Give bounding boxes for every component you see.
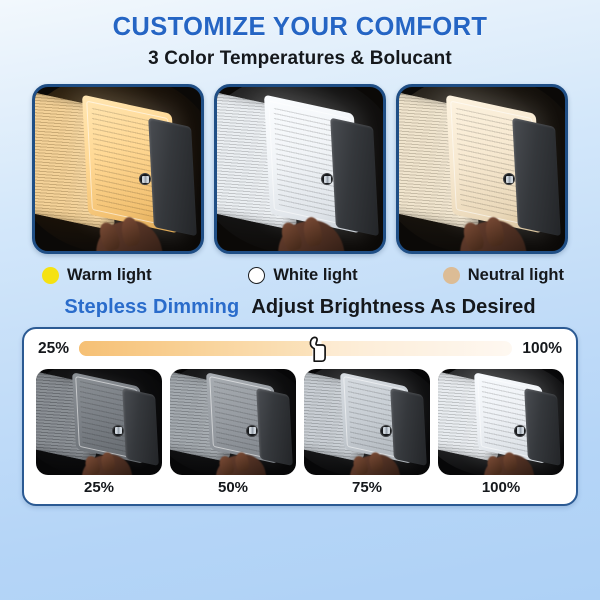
- warm-light-photo: [32, 84, 204, 254]
- brightness-label-75: 75%: [304, 479, 430, 496]
- brightness-thumbnail-row: [36, 369, 564, 475]
- brightness-slider-row[interactable]: 25% 100%: [36, 338, 564, 362]
- lamp-body-spine: [524, 388, 560, 466]
- lamp-body-spine: [256, 388, 292, 466]
- color-temperature-photo-row: [0, 84, 600, 254]
- book-light-illustration: [438, 369, 564, 475]
- book-light-illustration: [304, 369, 430, 475]
- lamp-body-spine: [512, 117, 561, 236]
- white-light-swatch-icon: [248, 267, 265, 284]
- lamp-body-spine: [390, 388, 426, 466]
- brightness-slider-fill: [79, 341, 317, 356]
- brightness-thumbnail-75: [304, 369, 430, 475]
- brightness-thumbnail-100: [438, 369, 564, 475]
- white-light-photo: [214, 84, 386, 254]
- warm-light-swatch-icon: [42, 267, 59, 284]
- brightness-slider-track[interactable]: [79, 341, 512, 356]
- neutral-light-swatch-icon: [443, 267, 460, 284]
- slider-min-label: 25%: [38, 340, 69, 358]
- page-subtitle: 3 Color Temperatures & Bolucant: [0, 48, 600, 70]
- page-title: CUSTOMIZE YOUR COMFORT: [0, 14, 600, 42]
- brightness-thumbnail-25: [36, 369, 162, 475]
- color-temperature-legend: Warm light White light Neutral light: [0, 266, 600, 285]
- hand-thumb-cursor-icon[interactable]: [305, 335, 329, 363]
- brightness-label-25: 25%: [36, 479, 162, 496]
- book-light-illustration: [35, 87, 201, 251]
- power-button-icon: [112, 425, 124, 437]
- lamp-body-spine: [122, 388, 158, 466]
- power-button-icon: [514, 425, 526, 437]
- dimming-heading-secondary: Adjust Brightness As Desired: [251, 296, 535, 319]
- lamp-body-spine: [330, 117, 379, 236]
- book-light-illustration: [170, 369, 296, 475]
- lamp-body-spine: [148, 117, 197, 236]
- legend-item-warm-light: Warm light: [30, 266, 216, 285]
- legend-label-warm-light: Warm light: [67, 266, 152, 285]
- dimming-heading-primary: Stepless Dimming: [64, 296, 239, 319]
- dimming-heading: Stepless Dimming Adjust Brightness As De…: [0, 296, 600, 319]
- power-button-icon: [380, 425, 392, 437]
- book-light-illustration: [399, 87, 565, 251]
- legend-item-white-light: White light: [216, 266, 390, 285]
- slider-max-label: 100%: [522, 340, 562, 358]
- legend-label-neutral-light: Neutral light: [468, 266, 564, 285]
- brightness-label-100: 100%: [438, 479, 564, 496]
- legend-item-neutral-light: Neutral light: [390, 266, 570, 285]
- legend-label-white-light: White light: [273, 266, 357, 285]
- page-header: CUSTOMIZE YOUR COMFORT 3 Color Temperatu…: [0, 0, 600, 70]
- neutral-light-photo: [396, 84, 568, 254]
- brightness-label-50: 50%: [170, 479, 296, 496]
- book-light-illustration: [36, 369, 162, 475]
- brightness-label-row: 25% 50% 75% 100%: [36, 479, 564, 496]
- dimming-panel: 25% 100%: [22, 327, 578, 506]
- power-button-icon: [246, 425, 258, 437]
- brightness-thumbnail-50: [170, 369, 296, 475]
- book-light-illustration: [217, 87, 383, 251]
